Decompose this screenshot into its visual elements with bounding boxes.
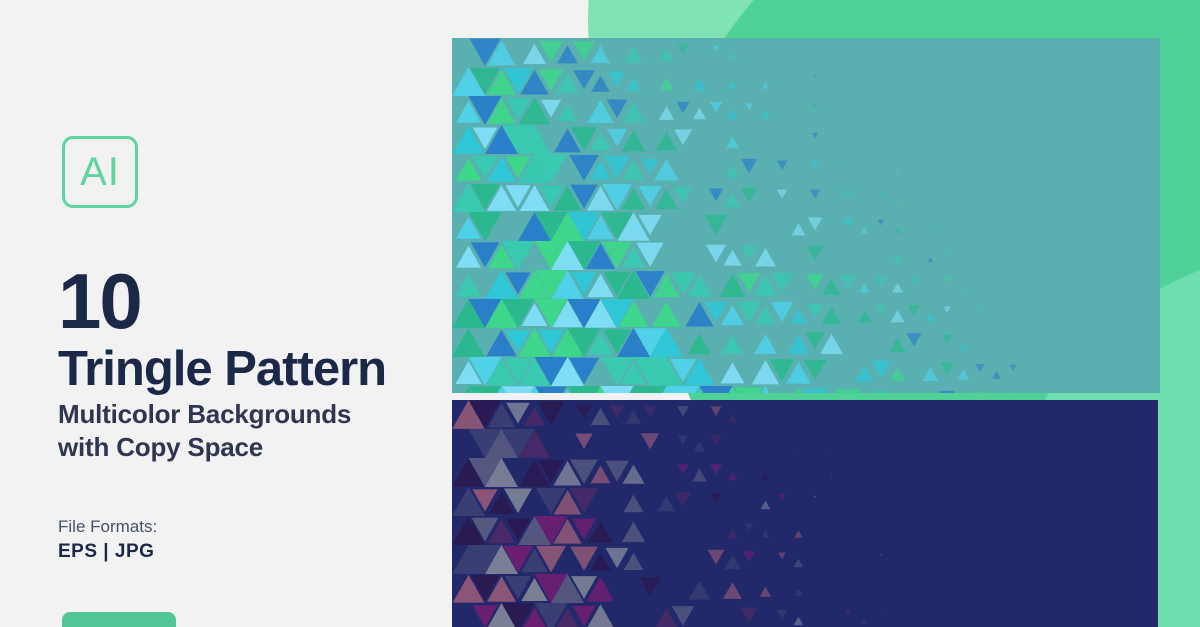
file-formats-value: EPS | JPG	[58, 541, 154, 563]
ai-format-badge: AI	[62, 136, 138, 208]
item-count: 10	[58, 262, 141, 340]
navy-pattern-graphic	[452, 400, 1158, 627]
page-title: Tringle Pattern	[58, 345, 386, 394]
preview-navy-triangle-pattern	[452, 400, 1158, 627]
page-subtitle: Multicolor Backgrounds with Copy Space	[58, 398, 351, 464]
info-column: AI 10 Tringle Pattern Multicolor Backgro…	[0, 0, 452, 627]
banner-stage: AI 10 Tringle Pattern Multicolor Backgro…	[0, 0, 1200, 627]
cta-button[interactable]	[62, 612, 176, 627]
teal-pattern-graphic	[452, 38, 1160, 393]
subtitle-line-2: with Copy Space	[58, 431, 351, 464]
ai-badge-label: AI	[80, 152, 120, 192]
file-formats-label: File Formats:	[58, 517, 157, 537]
preview-teal-triangle-pattern	[452, 38, 1160, 393]
subtitle-line-1: Multicolor Backgrounds	[58, 398, 351, 431]
